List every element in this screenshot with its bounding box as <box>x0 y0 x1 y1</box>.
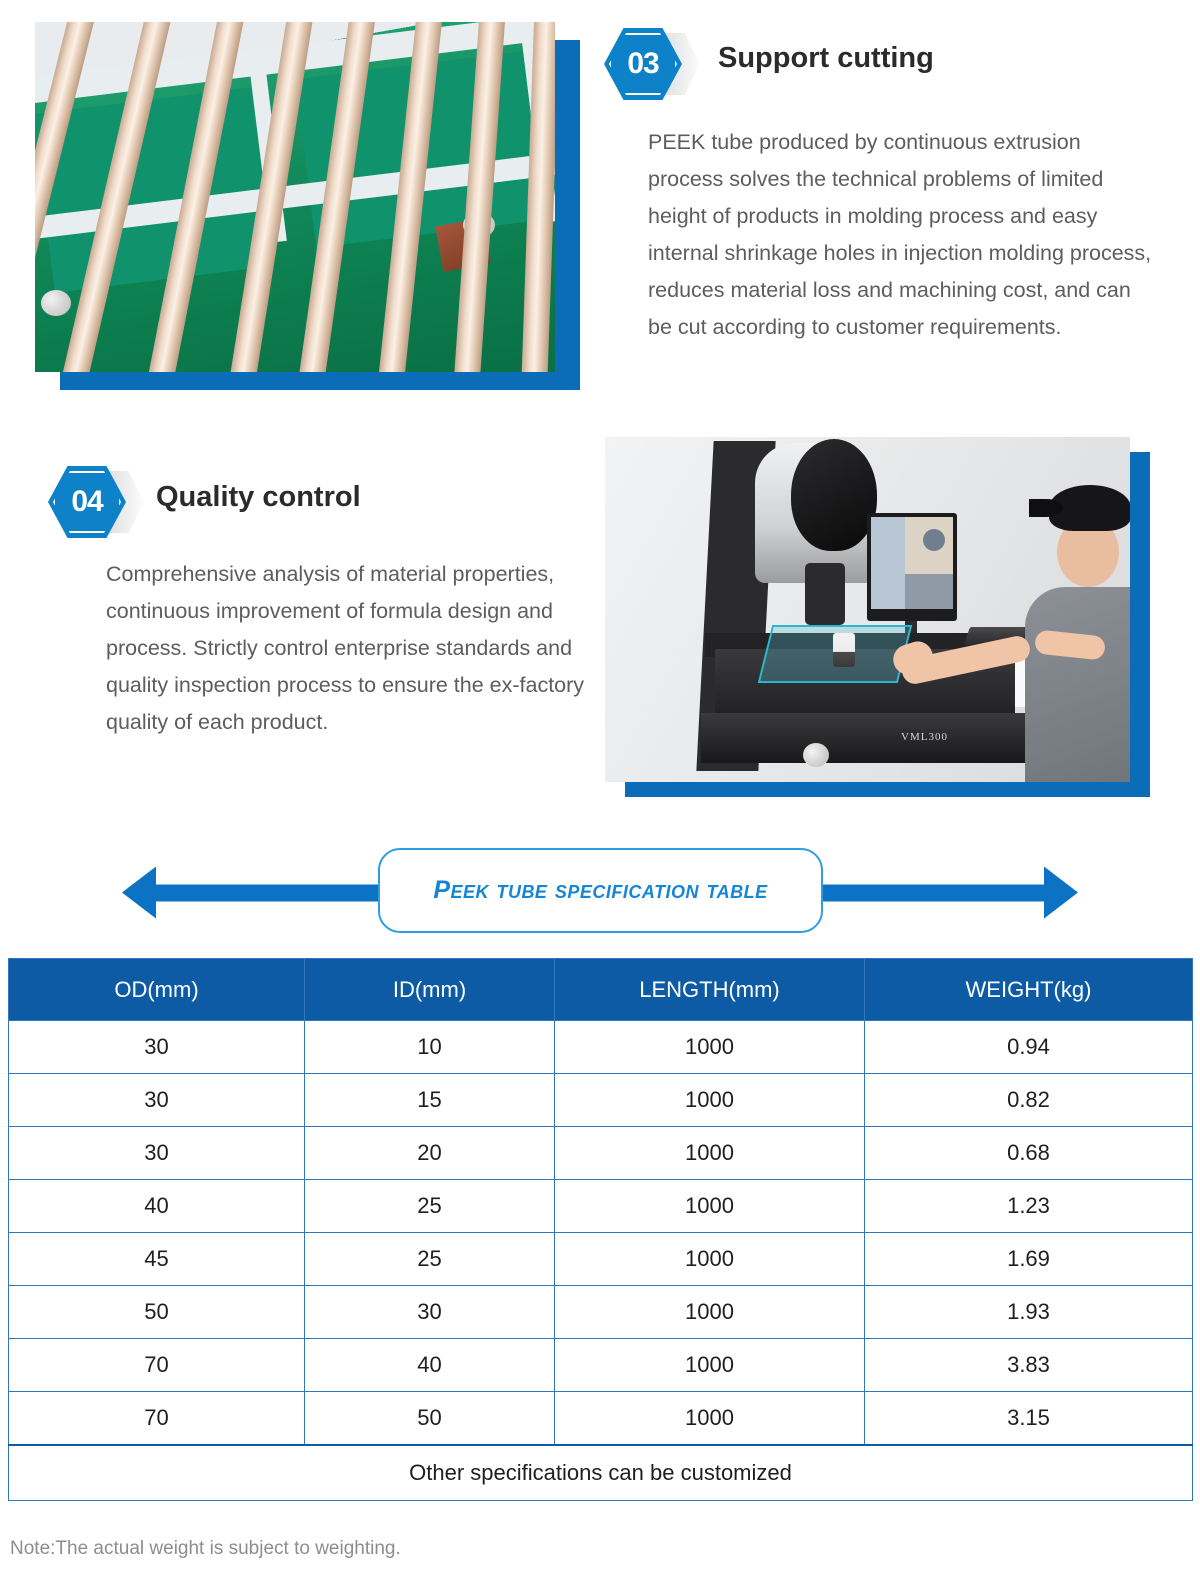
arrow-left-icon <box>122 867 156 919</box>
cell-od: 45 <box>9 1233 305 1286</box>
photo-inspection-wrapper: VML300 <box>605 437 1150 797</box>
screen-panel-left <box>871 517 905 609</box>
table-row: 50 30 1000 1.93 <box>9 1286 1193 1339</box>
table-header-row: OD(mm) ID(mm) LENGTH(mm) WEIGHT(kg) <box>9 959 1193 1021</box>
cell-weight: 0.82 <box>865 1074 1193 1127</box>
table-row: 70 50 1000 3.15 <box>9 1392 1193 1445</box>
section-title-support-cutting: Support cutting <box>718 42 934 75</box>
cell-id: 20 <box>305 1127 555 1180</box>
cell-weight: 0.68 <box>865 1127 1193 1180</box>
column-header-length: LENGTH(mm) <box>555 959 865 1021</box>
table-row: 30 20 1000 0.68 <box>9 1127 1193 1180</box>
weight-note: Note:The actual weight is subject to wei… <box>10 1538 401 1560</box>
cell-length: 1000 <box>555 1392 865 1445</box>
arrow-right-icon <box>1044 867 1078 919</box>
machine-model-label: VML300 <box>901 731 948 743</box>
monitor-screen <box>871 517 953 609</box>
table-row: 45 25 1000 1.69 <box>9 1233 1193 1286</box>
banner-title-box: Peek tube specification table <box>378 848 823 933</box>
cap-brim <box>1029 499 1063 517</box>
cell-weight: 3.15 <box>865 1392 1193 1445</box>
badge-number: 03 <box>627 47 658 81</box>
column-header-weight: WEIGHT(kg) <box>865 959 1193 1021</box>
cell-weight: 1.93 <box>865 1286 1193 1339</box>
peek-tube-specification-table: OD(mm) ID(mm) LENGTH(mm) WEIGHT(kg) 30 1… <box>8 958 1193 1501</box>
banner-title: Peek tube specification table <box>433 876 767 905</box>
cell-od: 30 <box>9 1074 305 1127</box>
cell-id: 25 <box>305 1233 555 1286</box>
screen-measurement-circle <box>923 529 945 551</box>
cell-length: 1000 <box>555 1074 865 1127</box>
cell-id: 50 <box>305 1392 555 1445</box>
cell-length: 1000 <box>555 1180 865 1233</box>
column-header-od: OD(mm) <box>9 959 305 1021</box>
photo-peek-tubes <box>35 22 555 372</box>
cell-id: 30 <box>305 1286 555 1339</box>
screen-panel-bottom <box>905 574 953 609</box>
cell-length: 1000 <box>555 1286 865 1339</box>
cell-od: 50 <box>9 1286 305 1339</box>
cell-custom-spec-note: Other specifications can be customized <box>9 1445 1193 1501</box>
sample-vial <box>833 633 855 667</box>
cell-od: 70 <box>9 1392 305 1445</box>
machine-optics-housing <box>805 563 845 625</box>
stage-roller <box>803 743 829 767</box>
cell-length: 1000 <box>555 1021 865 1074</box>
cell-od: 70 <box>9 1339 305 1392</box>
section-title-quality-control: Quality control <box>156 481 361 514</box>
table-footer-row: Other specifications can be customized <box>9 1445 1193 1501</box>
section-body-quality-control: Comprehensive analysis of material prope… <box>106 556 596 741</box>
table-row: 40 25 1000 1.23 <box>9 1180 1193 1233</box>
cell-id: 25 <box>305 1180 555 1233</box>
photo-quality-inspection: VML300 <box>605 437 1130 782</box>
roller-left <box>41 290 71 316</box>
cell-weight: 1.23 <box>865 1180 1193 1233</box>
cell-weight: 0.94 <box>865 1021 1193 1074</box>
photo-tubes-wrapper <box>35 22 580 390</box>
cell-id: 15 <box>305 1074 555 1127</box>
bench-panel-left <box>35 87 273 292</box>
cell-weight: 1.69 <box>865 1233 1193 1286</box>
cell-od: 40 <box>9 1180 305 1233</box>
stage-base <box>701 713 1031 763</box>
badge-number: 04 <box>71 485 102 519</box>
table-row: 70 40 1000 3.83 <box>9 1339 1193 1392</box>
cell-id: 40 <box>305 1339 555 1392</box>
cell-od: 30 <box>9 1127 305 1180</box>
machine-lens <box>791 439 877 551</box>
cell-id: 10 <box>305 1021 555 1074</box>
section-body-support-cutting: PEEK tube produced by continuous extrusi… <box>648 124 1160 346</box>
cell-length: 1000 <box>555 1233 865 1286</box>
operator-body <box>1025 587 1130 782</box>
column-header-id: ID(mm) <box>305 959 555 1021</box>
cell-od: 30 <box>9 1021 305 1074</box>
table-row: 30 15 1000 0.82 <box>9 1074 1193 1127</box>
cell-weight: 3.83 <box>865 1339 1193 1392</box>
cell-length: 1000 <box>555 1339 865 1392</box>
cell-length: 1000 <box>555 1127 865 1180</box>
table-row: 30 10 1000 0.94 <box>9 1021 1193 1074</box>
